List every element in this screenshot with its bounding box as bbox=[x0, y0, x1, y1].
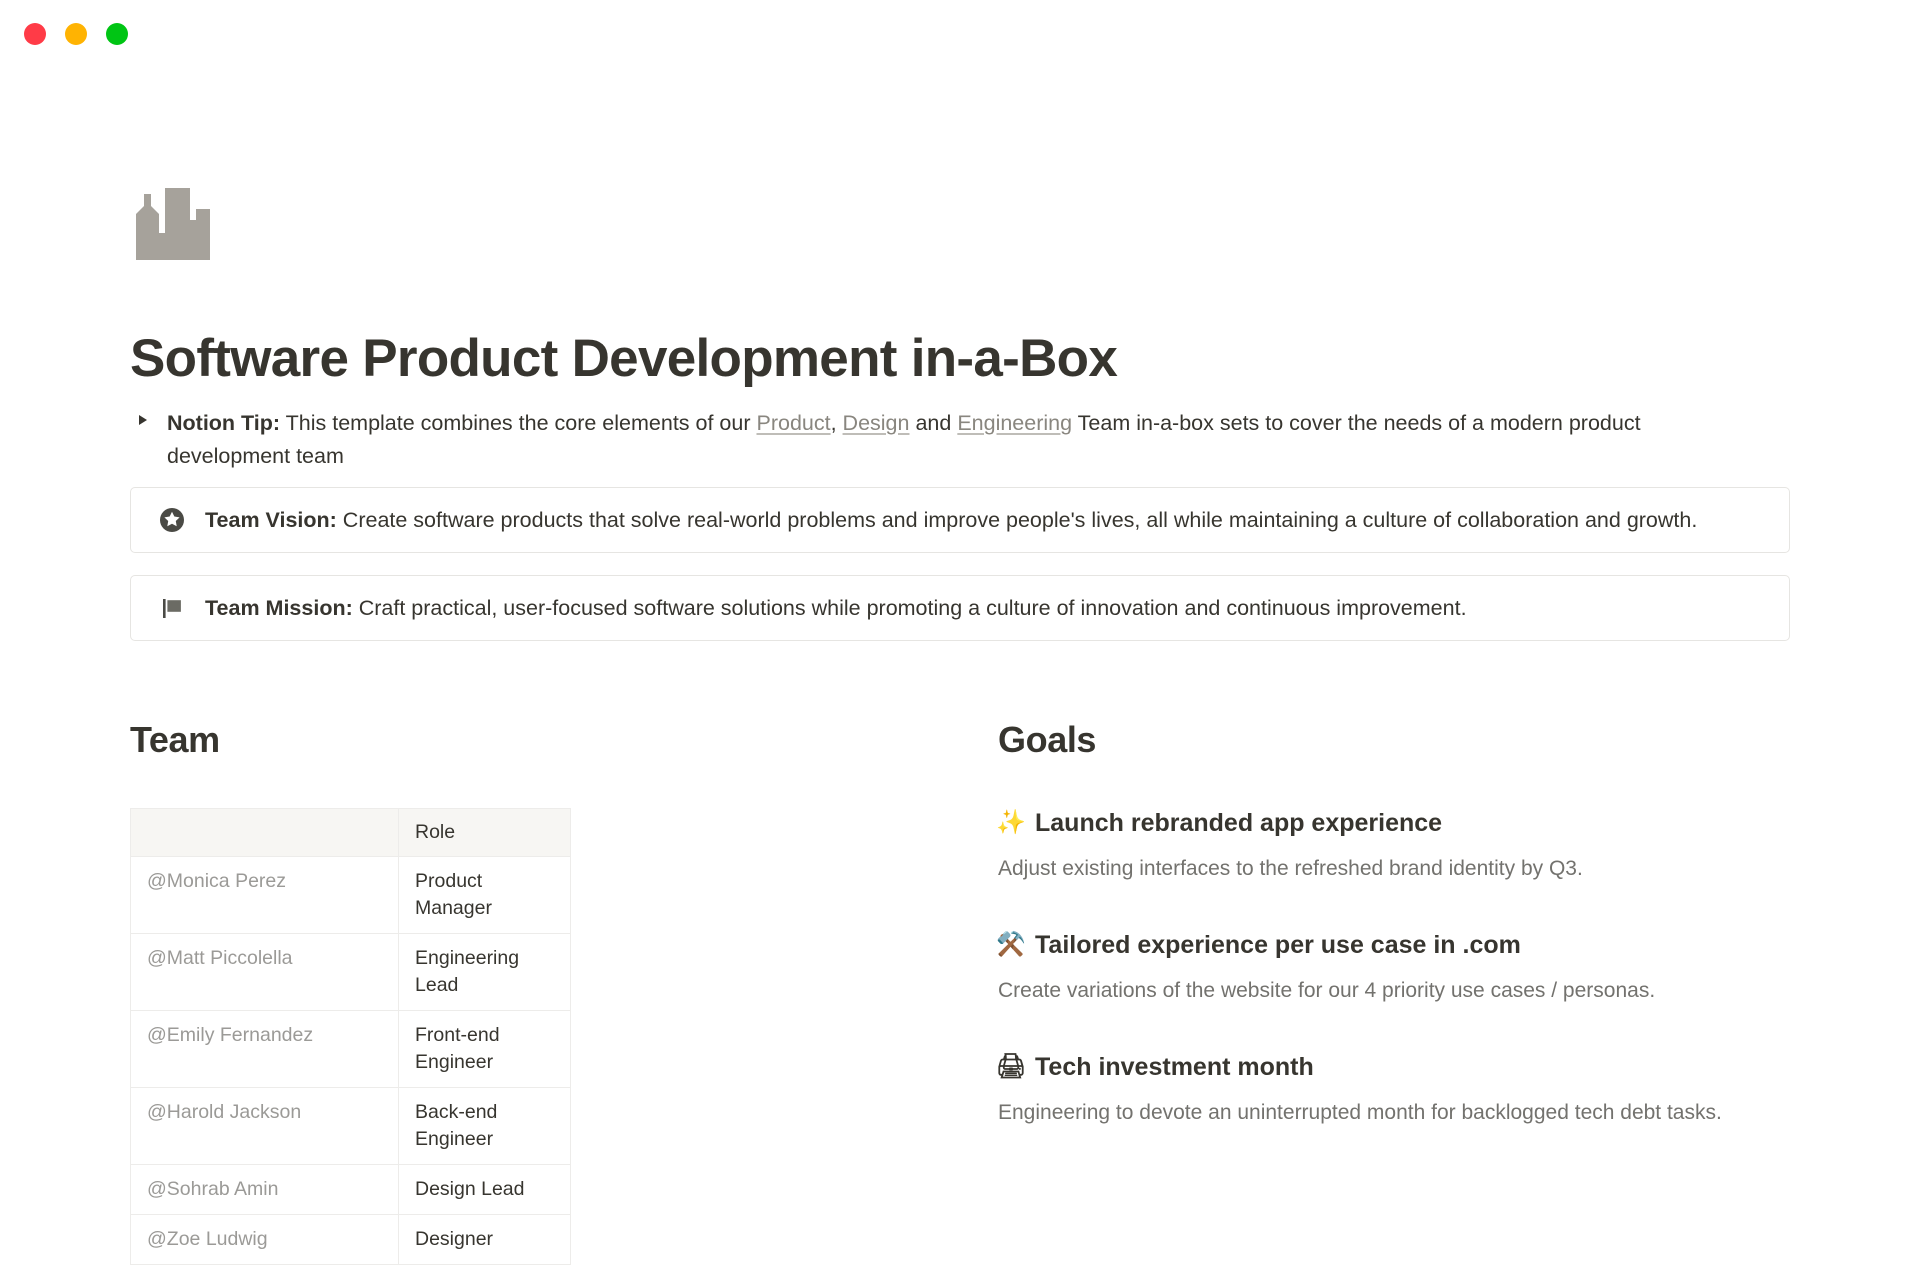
link-engineering[interactable]: Engineering bbox=[957, 411, 1072, 435]
cell-person[interactable]: @Matt Piccolella bbox=[131, 934, 399, 1011]
cell-role[interactable]: Design Lead bbox=[399, 1165, 571, 1215]
team-vision-text: Team Vision: Create software products th… bbox=[205, 505, 1697, 535]
table-row[interactable]: @Zoe Ludwig Designer bbox=[131, 1215, 571, 1265]
goal-description: Engineering to devote an uninterrupted m… bbox=[998, 1098, 1798, 1128]
star-circle-icon bbox=[157, 505, 187, 535]
table-row[interactable]: @Monica Perez Product Manager bbox=[131, 857, 571, 934]
goal-description: Create variations of the website for our… bbox=[998, 976, 1798, 1006]
notion-tip-label: Notion Tip: bbox=[167, 411, 280, 435]
goal-title: Launch rebranded app experience bbox=[1035, 806, 1442, 840]
goal-title: Tech investment month bbox=[1035, 1050, 1314, 1084]
triangle-right-icon[interactable] bbox=[139, 415, 147, 425]
team-vision-label: Team Vision: bbox=[205, 508, 337, 532]
cell-person[interactable]: @Sohrab Amin bbox=[131, 1165, 399, 1215]
cell-role[interactable]: Designer bbox=[399, 1215, 571, 1265]
page-title: Software Product Development in-a-Box bbox=[130, 330, 1117, 388]
team-mission-callout: Team Mission: Craft practical, user-focu… bbox=[130, 575, 1790, 641]
flag-icon bbox=[157, 593, 187, 623]
cell-person[interactable]: @Harold Jackson bbox=[131, 1088, 399, 1165]
sparkles-icon: ✨ bbox=[998, 806, 1024, 840]
cell-role[interactable]: Front-end Engineer bbox=[399, 1011, 571, 1088]
team-heading: Team bbox=[130, 718, 950, 762]
goal-title: Tailored experience per use case in .com bbox=[1035, 928, 1521, 962]
team-mission-text: Team Mission: Craft practical, user-focu… bbox=[205, 593, 1467, 623]
team-vision-callout: Team Vision: Create software products th… bbox=[130, 487, 1790, 553]
page-content: Software Product Development in-a-Box No… bbox=[0, 0, 1920, 1200]
team-vision-body: Create software products that solve real… bbox=[337, 508, 1698, 532]
goal-title-row: ⚒️ Tailored experience per use case in .… bbox=[998, 928, 1798, 962]
cell-role[interactable]: Back-end Engineer bbox=[399, 1088, 571, 1165]
column-header-role[interactable]: Role bbox=[399, 809, 571, 857]
goal-item: ✨ Launch rebranded app experience Adjust… bbox=[998, 806, 1798, 884]
tip-separator-1: , bbox=[831, 411, 843, 435]
link-product[interactable]: Product bbox=[756, 411, 830, 435]
hammer-and-wrench-icon: ⚒️ bbox=[998, 928, 1024, 962]
goal-description: Adjust existing interfaces to the refres… bbox=[998, 854, 1798, 884]
goals-column: Goals ✨ Launch rebranded app experience … bbox=[998, 718, 1798, 1128]
factory-cityscape-icon[interactable] bbox=[132, 178, 214, 260]
table-header-row: Role bbox=[131, 809, 571, 857]
notion-tip-text-before: This template combines the core elements… bbox=[280, 411, 756, 435]
table-row[interactable]: @Emily Fernandez Front-end Engineer bbox=[131, 1011, 571, 1088]
team-column: Team Role @Monica Perez Product Manager … bbox=[130, 718, 950, 1265]
column-header-person[interactable] bbox=[131, 809, 399, 857]
goal-item: ⚒️ Tailored experience per use case in .… bbox=[998, 928, 1798, 1006]
printer-icon: 🖨 bbox=[998, 1050, 1024, 1084]
link-design[interactable]: Design bbox=[843, 411, 910, 435]
tip-separator-2: and bbox=[909, 411, 957, 435]
table-row[interactable]: @Sohrab Amin Design Lead bbox=[131, 1165, 571, 1215]
team-mission-label: Team Mission: bbox=[205, 596, 353, 620]
cell-person[interactable]: @Monica Perez bbox=[131, 857, 399, 934]
team-table: Role @Monica Perez Product Manager @Matt… bbox=[130, 808, 571, 1265]
table-row[interactable]: @Harold Jackson Back-end Engineer bbox=[131, 1088, 571, 1165]
notion-tip-toggle[interactable]: Notion Tip: This template combines the c… bbox=[130, 407, 1790, 473]
cell-role[interactable]: Product Manager bbox=[399, 857, 571, 934]
cell-role[interactable]: Engineering Lead bbox=[399, 934, 571, 1011]
goal-title-row: ✨ Launch rebranded app experience bbox=[998, 806, 1798, 840]
goal-item: 🖨 Tech investment month Engineering to d… bbox=[998, 1050, 1798, 1128]
cell-person[interactable]: @Emily Fernandez bbox=[131, 1011, 399, 1088]
goals-heading: Goals bbox=[998, 718, 1798, 762]
goal-title-row: 🖨 Tech investment month bbox=[998, 1050, 1798, 1084]
team-mission-body: Craft practical, user-focused software s… bbox=[353, 596, 1467, 620]
table-row[interactable]: @Matt Piccolella Engineering Lead bbox=[131, 934, 571, 1011]
cell-person[interactable]: @Zoe Ludwig bbox=[131, 1215, 399, 1265]
notion-tip-text: Notion Tip: This template combines the c… bbox=[130, 407, 1690, 473]
